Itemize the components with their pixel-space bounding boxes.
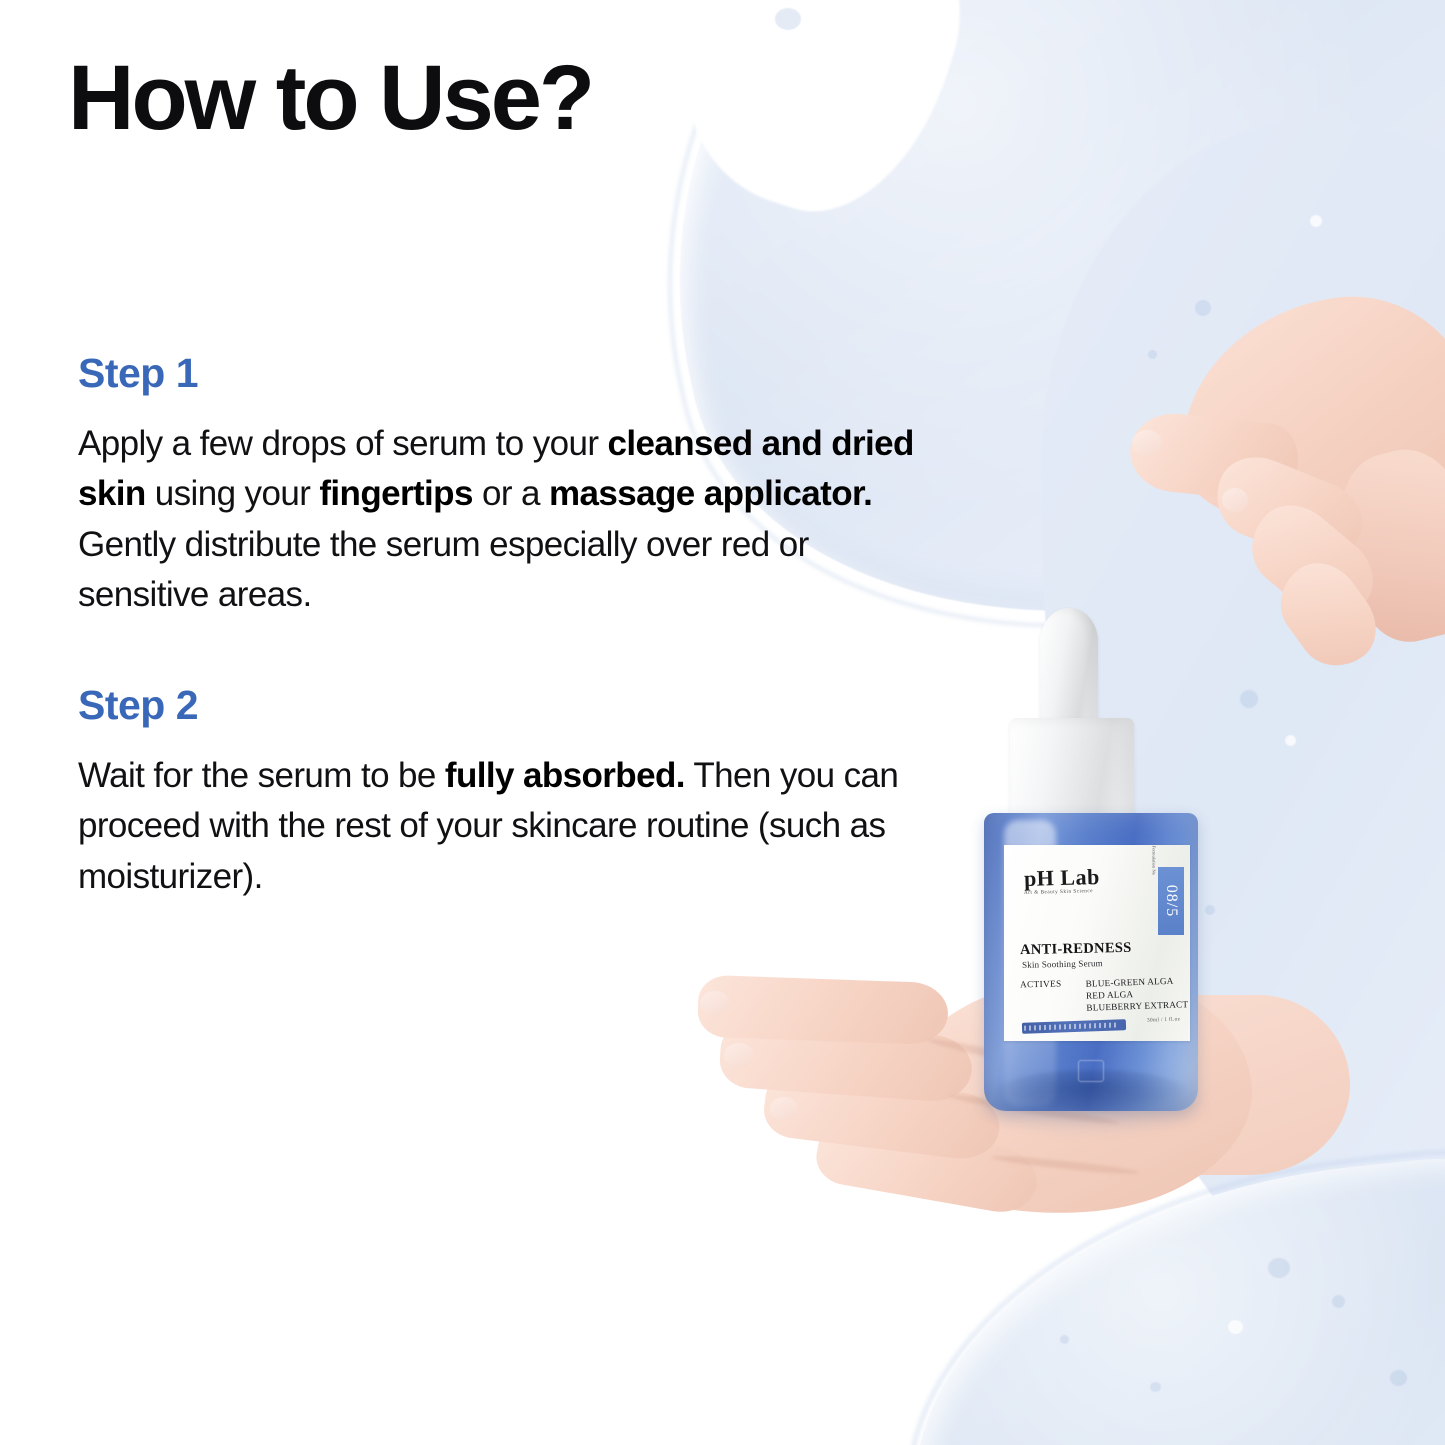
badge-value: 08/5 [1162,885,1180,917]
fingernail [700,991,730,1015]
gel-bubble [1332,1295,1345,1308]
how-to-use-infographic: How to Use? Step 1 Apply a few drops of … [0,0,1445,1445]
gel-bubble [1390,1370,1407,1386]
gel-bubble [1268,1258,1290,1278]
reaching-hand [1118,300,1445,730]
actives-list: BLUE-GREEN ALGARED ALGABLUEBERRY EXTRACT [1085,975,1188,1014]
gel-bubble [1150,1382,1161,1392]
gel-bubble [775,8,801,30]
gel-bubble [1228,1320,1243,1334]
actives-label: ACTIVES [1020,979,1062,990]
page-title: How to Use? [68,52,592,144]
step-1-heading: Step 1 [78,350,938,397]
product-label: pH Lab Art & Beauty Skin Science Formula… [1004,845,1190,1041]
gel-bubble [1285,735,1296,746]
gel-bubble [1060,1335,1069,1344]
step-1-body: Apply a few drops of serum to your clean… [78,419,923,621]
volume-text: 30ml / 1 fl.oz [1147,1016,1180,1023]
fingernail [1222,488,1248,512]
product-name: ANTI-REDNESS [1020,940,1132,959]
palm-finger [697,975,949,1046]
product-subtitle: Skin Soothing Serum [1022,958,1103,970]
badge-side-text: Formulation No [1151,846,1156,875]
step-2-heading: Step 2 [78,682,938,729]
gel-bubble [1205,905,1215,915]
label-script-accent [1022,1019,1126,1034]
dropper-cap-collar [1010,718,1134,828]
step-2-block: Step 2 Wait for the serum to be fully ab… [78,682,938,902]
dropper-bulb [1040,608,1098,732]
gel-wave-notch [655,0,995,241]
brand-tagline: Art & Beauty Skin Science [1024,888,1093,896]
formulation-badge: 08/5 [1158,867,1184,935]
fingernail [724,1043,754,1067]
gel-bubble [1310,215,1322,227]
step-1-block: Step 1 Apply a few drops of serum to you… [78,350,938,621]
fingernail [1132,430,1162,456]
bottle-embossed-mark [1078,1060,1104,1082]
step-2-body: Wait for the serum to be fully absorbed.… [78,751,923,902]
fingernail [770,1097,798,1120]
